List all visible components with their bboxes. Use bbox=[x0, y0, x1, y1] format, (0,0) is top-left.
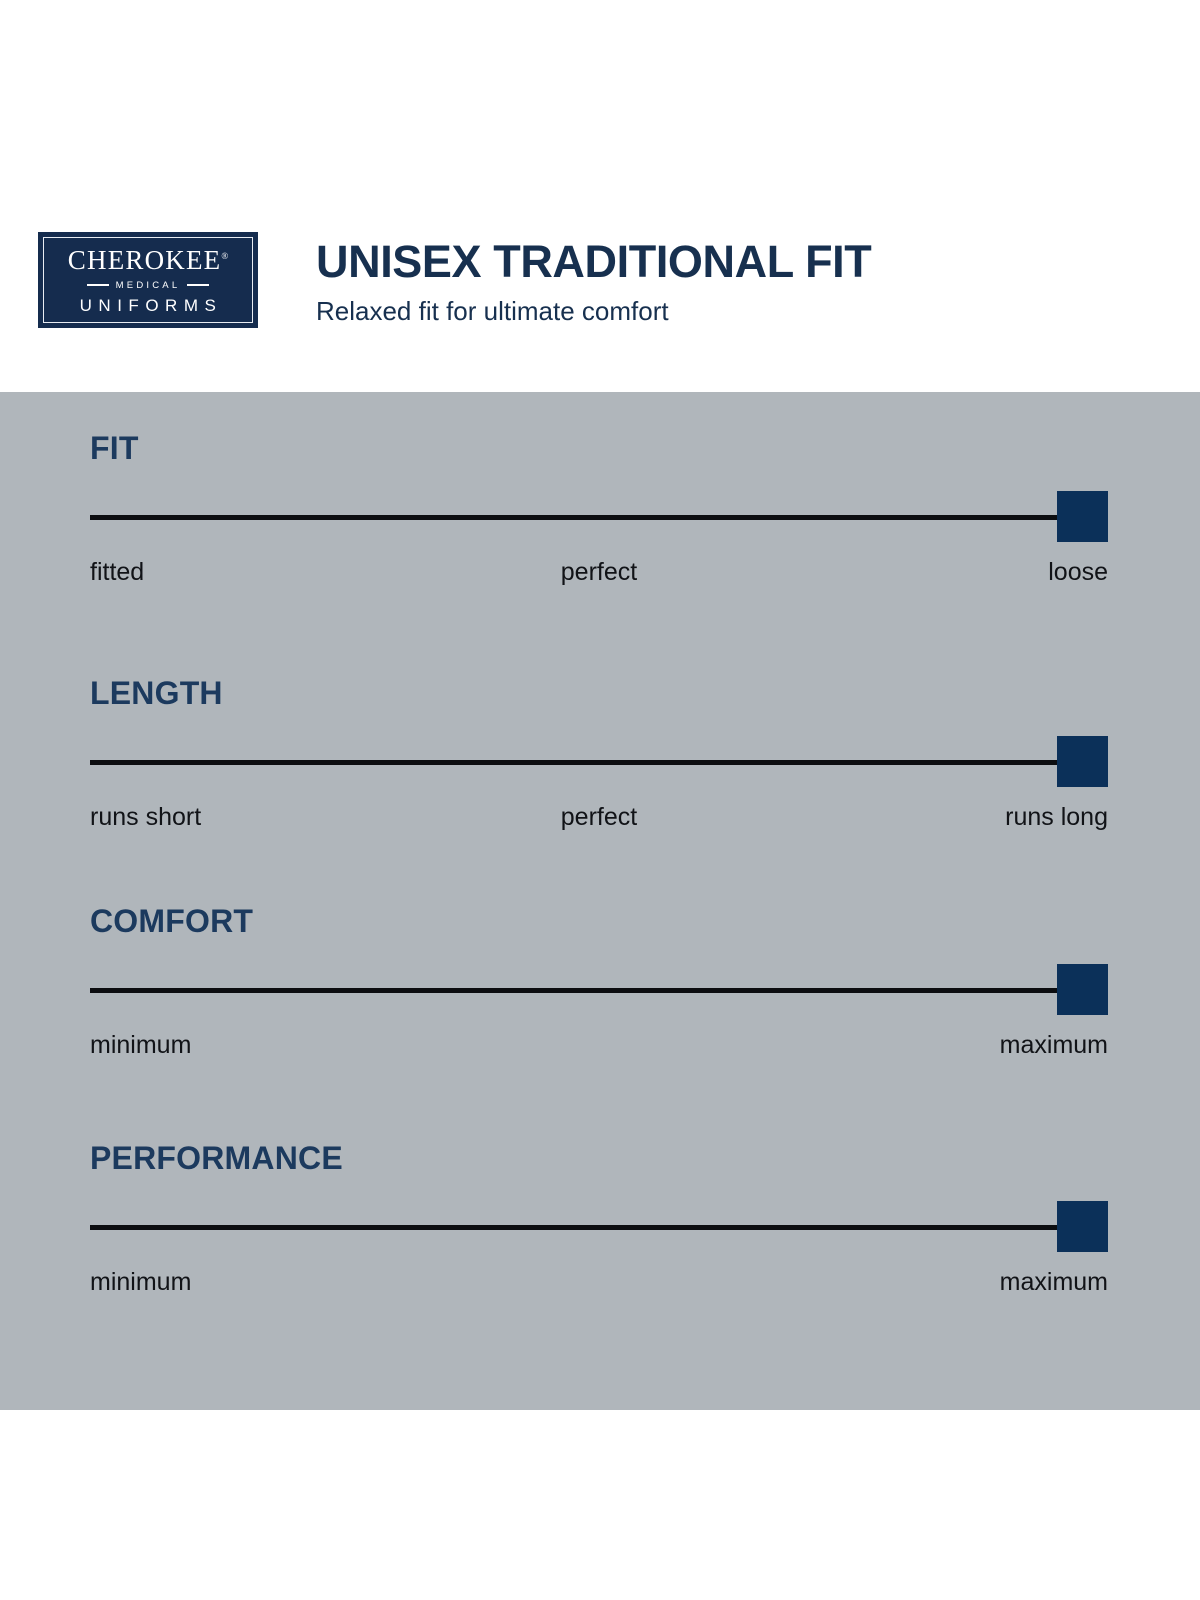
scale-label-center-length: perfect bbox=[561, 802, 637, 832]
scale-marker-fit[interactable] bbox=[1057, 491, 1108, 542]
scale-section-fit: FIT fitted perfect loose bbox=[90, 432, 1108, 591]
fit-guide-page: CHEROKEE® MEDICAL UNIFORMS UNISEX TRADIT… bbox=[0, 0, 1200, 1600]
scale-label-left-fit: fitted bbox=[90, 557, 144, 587]
scale-track-comfort bbox=[90, 988, 1108, 993]
scale-label-right-performance: maximum bbox=[1000, 1267, 1108, 1297]
scale-marker-length[interactable] bbox=[1057, 736, 1108, 787]
logo-medical-word: MEDICAL bbox=[116, 280, 181, 291]
scale-label-right-comfort: maximum bbox=[1000, 1030, 1108, 1060]
page-subtitle: Relaxed fit for ultimate comfort bbox=[316, 297, 871, 326]
scale-labels-fit: fitted perfect loose bbox=[90, 557, 1108, 591]
scale-title-comfort: COMFORT bbox=[90, 905, 1108, 937]
logo-brand-name: CHEROKEE® bbox=[68, 247, 228, 274]
scale-marker-comfort[interactable] bbox=[1057, 964, 1108, 1015]
scale-track-length bbox=[90, 760, 1108, 765]
cherokee-logo: CHEROKEE® MEDICAL UNIFORMS bbox=[38, 232, 258, 328]
page-title: UNISEX TRADITIONAL FIT bbox=[316, 238, 871, 285]
header-text-block: UNISEX TRADITIONAL FIT Relaxed fit for u… bbox=[316, 238, 871, 326]
scale-labels-length: runs short perfect runs long bbox=[90, 802, 1108, 836]
registered-mark-icon: ® bbox=[221, 251, 228, 261]
logo-rule-right-icon bbox=[187, 284, 209, 286]
logo-uniforms-word: UNIFORMS bbox=[80, 296, 223, 316]
logo-medical-row: MEDICAL bbox=[44, 280, 252, 291]
scale-slider-fit[interactable] bbox=[90, 491, 1108, 543]
fit-scales-panel: FIT fitted perfect loose LENGTH runs sho… bbox=[0, 392, 1200, 1410]
scale-label-right-fit: loose bbox=[1048, 557, 1108, 587]
scale-label-left-length: runs short bbox=[90, 802, 201, 832]
scale-labels-comfort: minimum maximum bbox=[90, 1030, 1108, 1064]
scale-slider-performance[interactable] bbox=[90, 1201, 1108, 1253]
scale-section-performance: PERFORMANCE minimum maximum bbox=[90, 1142, 1108, 1301]
scale-track-performance bbox=[90, 1225, 1108, 1230]
scale-slider-length[interactable] bbox=[90, 736, 1108, 788]
scale-section-comfort: COMFORT minimum maximum bbox=[90, 905, 1108, 1064]
logo-inner-border: CHEROKEE® MEDICAL UNIFORMS bbox=[43, 237, 253, 323]
scale-title-performance: PERFORMANCE bbox=[90, 1142, 1108, 1174]
scale-label-center-fit: perfect bbox=[561, 557, 637, 587]
scale-label-left-comfort: minimum bbox=[90, 1030, 191, 1060]
scale-slider-comfort[interactable] bbox=[90, 964, 1108, 1016]
scale-marker-performance[interactable] bbox=[1057, 1201, 1108, 1252]
logo-rule-left-icon bbox=[87, 284, 109, 286]
scale-label-right-length: runs long bbox=[1005, 802, 1108, 832]
scale-labels-performance: minimum maximum bbox=[90, 1267, 1108, 1301]
scale-title-length: LENGTH bbox=[90, 677, 1108, 709]
page-header: CHEROKEE® MEDICAL UNIFORMS UNISEX TRADIT… bbox=[0, 0, 1200, 392]
logo-brand-word: CHEROKEE bbox=[68, 245, 222, 275]
scale-label-left-performance: minimum bbox=[90, 1267, 191, 1297]
scale-title-fit: FIT bbox=[90, 432, 1108, 464]
scale-track-fit bbox=[90, 515, 1108, 520]
scale-section-length: LENGTH runs short perfect runs long bbox=[90, 677, 1108, 836]
